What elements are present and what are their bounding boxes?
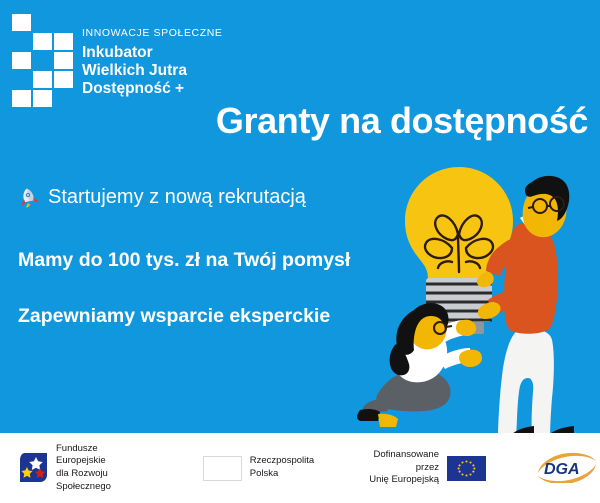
logo-square-1-1 — [33, 33, 52, 50]
logo-square-2-0 — [12, 52, 31, 69]
list-item: Zapewniamy wsparcie eksperckie — [18, 305, 398, 327]
brand-kicker: INNOWACJE SPOŁECZNE — [82, 28, 223, 40]
list-item: Mamy do 100 tys. zł na Twój pomysł — [18, 249, 398, 271]
logo-square-3-0 — [12, 71, 31, 88]
list-item-label: Startujemy z nową rekrutacją — [48, 186, 306, 209]
svg-text:DGA: DGA — [544, 461, 580, 478]
fundusze-europejskie-label: Fundusze Europejskie dla Rozwoju Społecz… — [56, 443, 148, 493]
brand-name-line-2: Wielkich Jutra — [82, 62, 223, 80]
funding-footer: Fundusze Europejskie dla Rozwoju Społecz… — [0, 433, 600, 503]
brand-lockup: INNOWACJE SPOŁECZNE Inkubator Wielkich J… — [12, 14, 223, 106]
list-item-label: Mamy do 100 tys. zł na Twój pomysł — [18, 249, 350, 271]
logo-square-4-2 — [54, 90, 73, 107]
logo-square-3-1 — [33, 71, 52, 88]
brand-text-block: INNOWACJE SPOŁECZNE Inkubator Wielkich J… — [82, 14, 223, 98]
fe-emblem-icon — [18, 452, 48, 484]
woman-shoe — [357, 409, 380, 421]
man-trousers — [498, 328, 554, 433]
poster-canvas: INNOWACJE SPOŁECZNE Inkubator Wielkich J… — [0, 0, 600, 503]
logo-square-1-0 — [12, 33, 31, 50]
logo-square-1-2 — [54, 33, 73, 50]
fundusze-europejskie-lockup: Fundusze Europejskie dla Rozwoju Społecz… — [18, 443, 148, 493]
logo-square-2-2 — [54, 52, 73, 69]
logo-square-4-1 — [33, 90, 52, 107]
logo-square-4-0 — [12, 90, 31, 107]
brand-name-line-3: Dostępność + — [82, 80, 223, 98]
inkubator-squares-logo — [12, 14, 74, 106]
logo-square-0-0 — [12, 14, 31, 31]
dga-logo-icon: DGA — [534, 453, 600, 483]
list-item: Startujemy z nową rekrutacją — [18, 186, 398, 209]
benefit-list: Startujemy z nową rekrutacją Mamy do 100… — [18, 186, 398, 328]
brand-name-line-1: Inkubator — [82, 44, 223, 62]
page-title: Granty na dostępność — [216, 103, 588, 139]
polish-flag-icon — [203, 456, 242, 481]
eu-flag-icon — [447, 456, 486, 481]
woman-hand-lower — [459, 350, 482, 367]
logo-square-0-2 — [54, 14, 73, 31]
woman-hand-upper — [456, 320, 476, 336]
two-people-holding-lightbulb — [352, 152, 600, 433]
woman-figure — [357, 303, 482, 427]
man-shoe-right — [550, 426, 574, 433]
logo-square-3-2 — [54, 71, 73, 88]
dofinansowane-ue-label: Dofinansowane przez Unię Europejską — [364, 449, 439, 487]
rocket-emoji — [18, 187, 39, 208]
rzeczpospolita-polska-label: Rzeczpospolita Polska — [250, 455, 314, 480]
logo-square-0-1 — [33, 14, 52, 31]
woman-shoe-sole — [378, 414, 398, 427]
dofinansowane-ue-lockup: Dofinansowane przez Unię Europejską — [364, 449, 486, 487]
rzeczpospolita-polska-lockup: Rzeczpospolita Polska — [203, 455, 314, 480]
dga-lockup: DGA — [534, 453, 600, 483]
logo-square-2-1 — [33, 52, 52, 69]
list-item-label: Zapewniamy wsparcie eksperckie — [18, 305, 330, 327]
